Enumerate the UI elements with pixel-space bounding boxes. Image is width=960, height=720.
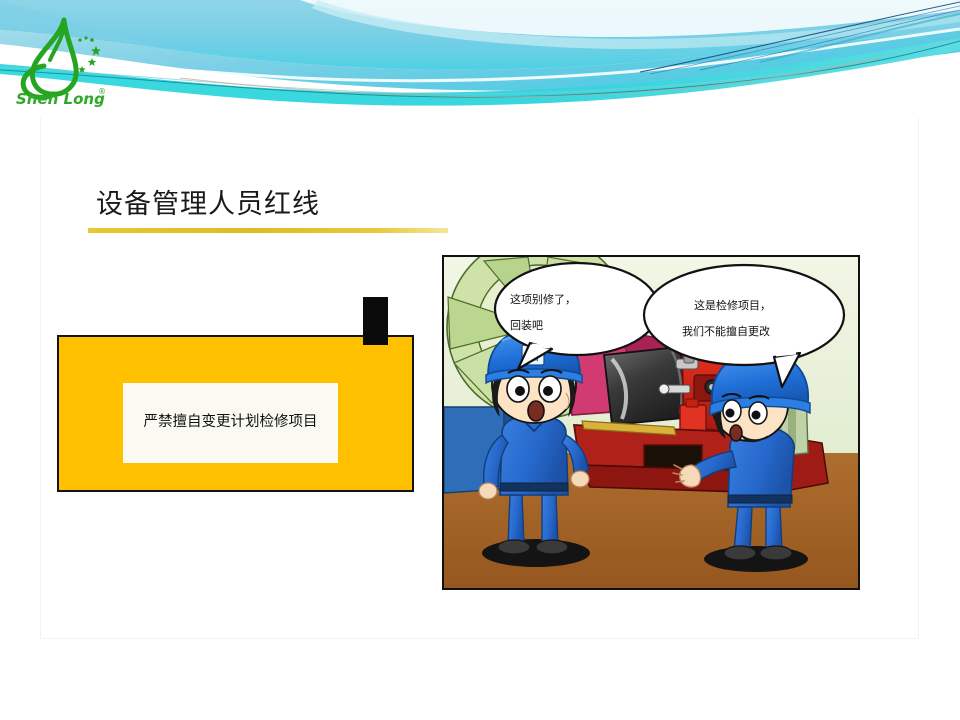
- bubble-left-line2: 回装吧: [510, 319, 543, 332]
- callout-black-tab: [363, 297, 388, 345]
- page-title: 设备管理人员红线: [96, 182, 320, 221]
- logo-wordmark: Shen Long: [16, 90, 105, 108]
- bubble-right-line2: 我们不能擅自更改: [682, 324, 770, 338]
- illustration-frame: 国: [442, 255, 860, 590]
- bubble-right-line1: 这是检修项目，: [694, 298, 771, 312]
- bubble-left-line1: 这项别修了，: [510, 292, 576, 306]
- title-underline-rule: [88, 228, 448, 233]
- shen-long-logo: Shen Long ®: [8, 14, 118, 110]
- callout-inner-panel: 严禁擅自变更计划检修项目: [123, 383, 338, 463]
- frame-right-rule: [918, 118, 919, 638]
- header-banner: [0, 0, 960, 118]
- registered-mark: ®: [98, 87, 106, 96]
- frame-left-rule: [40, 118, 41, 638]
- frame-bottom-rule: [40, 638, 919, 639]
- slide-canvas: Shen Long ® 设备管理人员红线 严禁擅自变更计划检修项目: [0, 0, 960, 720]
- callout-text: 严禁擅自变更计划检修项目: [136, 412, 326, 433]
